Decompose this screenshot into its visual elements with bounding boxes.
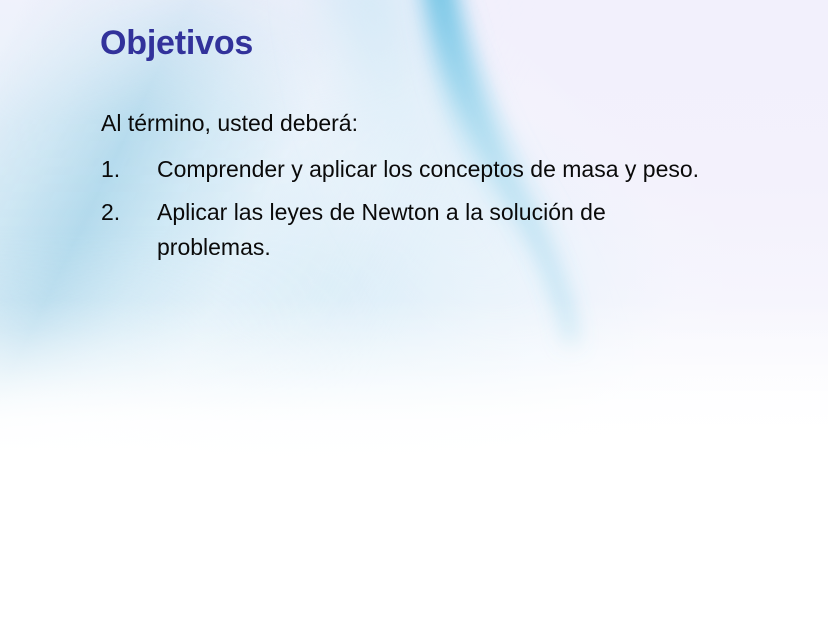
slide-content: Objetivos Al término, usted deberá: 1. C… [0,0,828,621]
list-item-marker: 1. [101,152,157,187]
objectives-block: Al término, usted deberá: 1. Comprender … [101,108,711,273]
list-item: 2. Aplicar las leyes de Newton a la solu… [101,195,711,265]
page-title: Objetivos [100,22,253,64]
list-item-marker: 2. [101,195,157,230]
slide: Objetivos Al término, usted deberá: 1. C… [0,0,828,621]
lead-text: Al término, usted deberá: [101,108,711,138]
list-item: 1. Comprender y aplicar los conceptos de… [101,152,711,187]
list-item-label: Comprender y aplicar los conceptos de ma… [157,152,711,187]
list-item-label: Aplicar las leyes de Newton a la solució… [157,195,711,265]
objectives-list: 1. Comprender y aplicar los conceptos de… [101,152,711,265]
